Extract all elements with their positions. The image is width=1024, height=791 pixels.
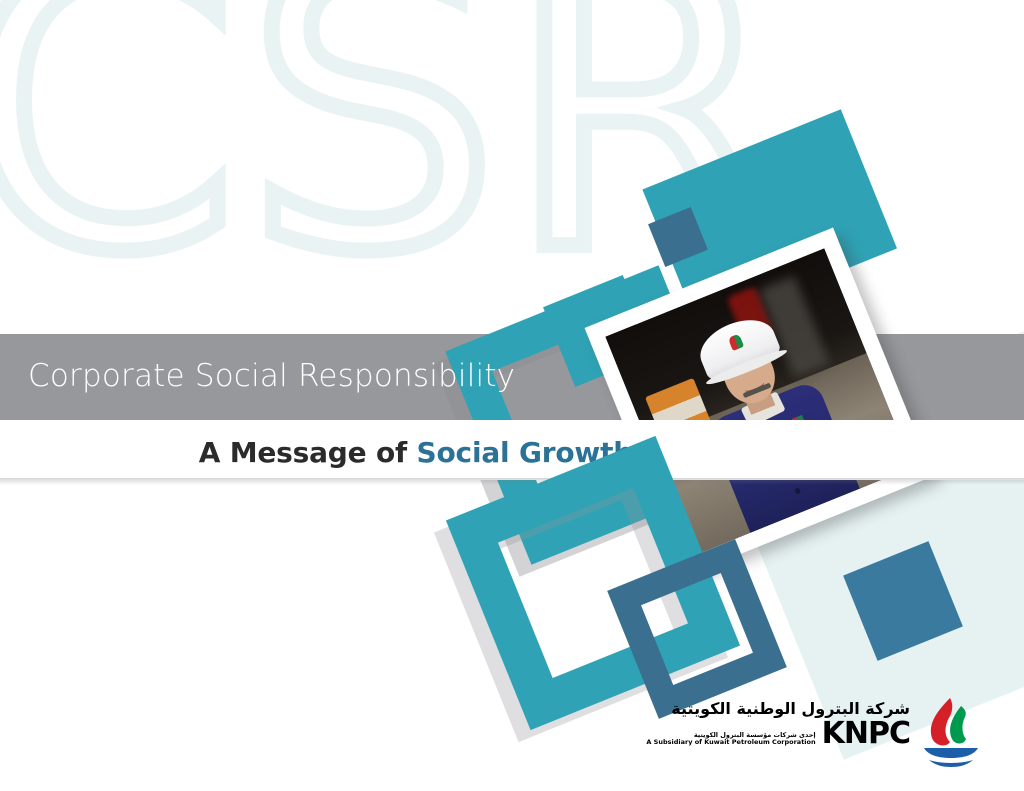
knpc-logo-text: شركة البترول الوطنية الكويتية إحدى شركات… xyxy=(720,700,910,747)
headline-plain: A Message of xyxy=(199,436,417,469)
headline: A Message of Social Growth xyxy=(0,436,633,469)
knpc-logo: شركة البترول الوطنية الكويتية إحدى شركات… xyxy=(722,700,982,772)
knpc-flame-icon xyxy=(920,696,982,768)
knpc-acronym: KNPC xyxy=(822,720,910,747)
knpc-logo-row: إحدى شركات مؤسسة البترول الكويتية A Subs… xyxy=(720,720,910,747)
knpc-arabic-name: شركة البترول الوطنية الكويتية xyxy=(720,700,910,718)
knpc-english-subsidiary: A Subsidiary of Kuwait Petroleum Corpora… xyxy=(646,739,815,746)
headline-band-shadow xyxy=(0,478,1024,485)
knpc-subsidiary-block: إحدى شركات مؤسسة البترول الكويتية A Subs… xyxy=(646,732,815,747)
slide-canvas: CSR xyxy=(0,0,1024,791)
page-title: Corporate Social Responsibility xyxy=(28,358,515,394)
